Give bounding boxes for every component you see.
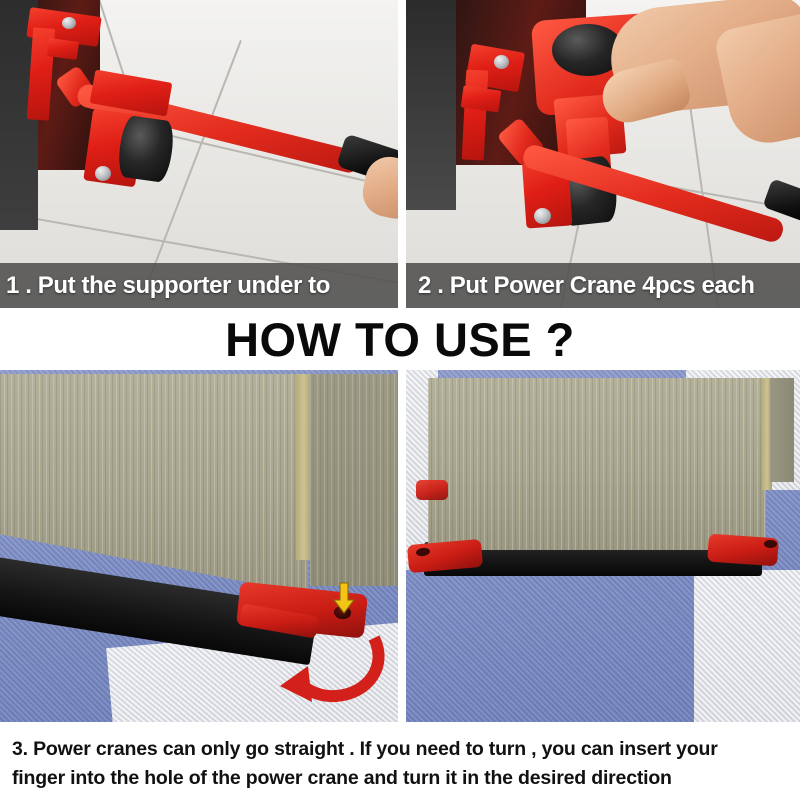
supporter-bracket-arm [462, 69, 489, 160]
power-crane-slider-rear [416, 480, 448, 500]
power-crane-slider [707, 534, 779, 567]
step-3-photo-right [406, 370, 800, 722]
roller-axle-bolt [534, 208, 551, 224]
carpet-white-tile [694, 570, 800, 722]
step-3-caption-line-1: 3. Power cranes can only go straight . I… [12, 735, 790, 764]
power-crane-hole [764, 540, 777, 548]
furniture-cabinet [428, 378, 766, 550]
panel-divider [398, 0, 406, 308]
curved-rotate-arrow-icon [264, 632, 390, 712]
step-3-caption-line-2: finger into the hole of the power crane … [12, 764, 790, 793]
step-3-photo-left [0, 370, 398, 722]
step-1-caption-bar: 1 . Put the supporter under to [0, 263, 398, 308]
furniture-cabinet-side [770, 378, 794, 482]
bracket-bolt [62, 17, 76, 29]
step-2-caption-bar: 2 . Put Power Crane 4pcs each [406, 263, 800, 308]
bracket-bolt [494, 55, 509, 69]
step-2-photo: 2 . Put Power Crane 4pcs each [406, 0, 800, 308]
furniture-cabinet-side [310, 374, 398, 586]
step-2-caption-text: 2 . Put Power Crane 4pcs each [418, 272, 755, 300]
step-1-caption-text: 1 . Put the supporter under to [6, 272, 330, 300]
page-title-text: HOW TO USE ? [225, 312, 575, 367]
down-arrow-icon [329, 582, 359, 616]
panel-divider [398, 370, 406, 722]
roller-axle-bolt [95, 166, 111, 181]
step-3-caption: 3. Power cranes can only go straight . I… [0, 730, 800, 800]
step-1-photo: 1 . Put the supporter under to [0, 0, 398, 308]
page-title: HOW TO USE ? [0, 310, 800, 368]
how-to-use-infographic: 1 . Put the supporter under to [0, 0, 800, 800]
furniture-base-dark [406, 0, 456, 210]
